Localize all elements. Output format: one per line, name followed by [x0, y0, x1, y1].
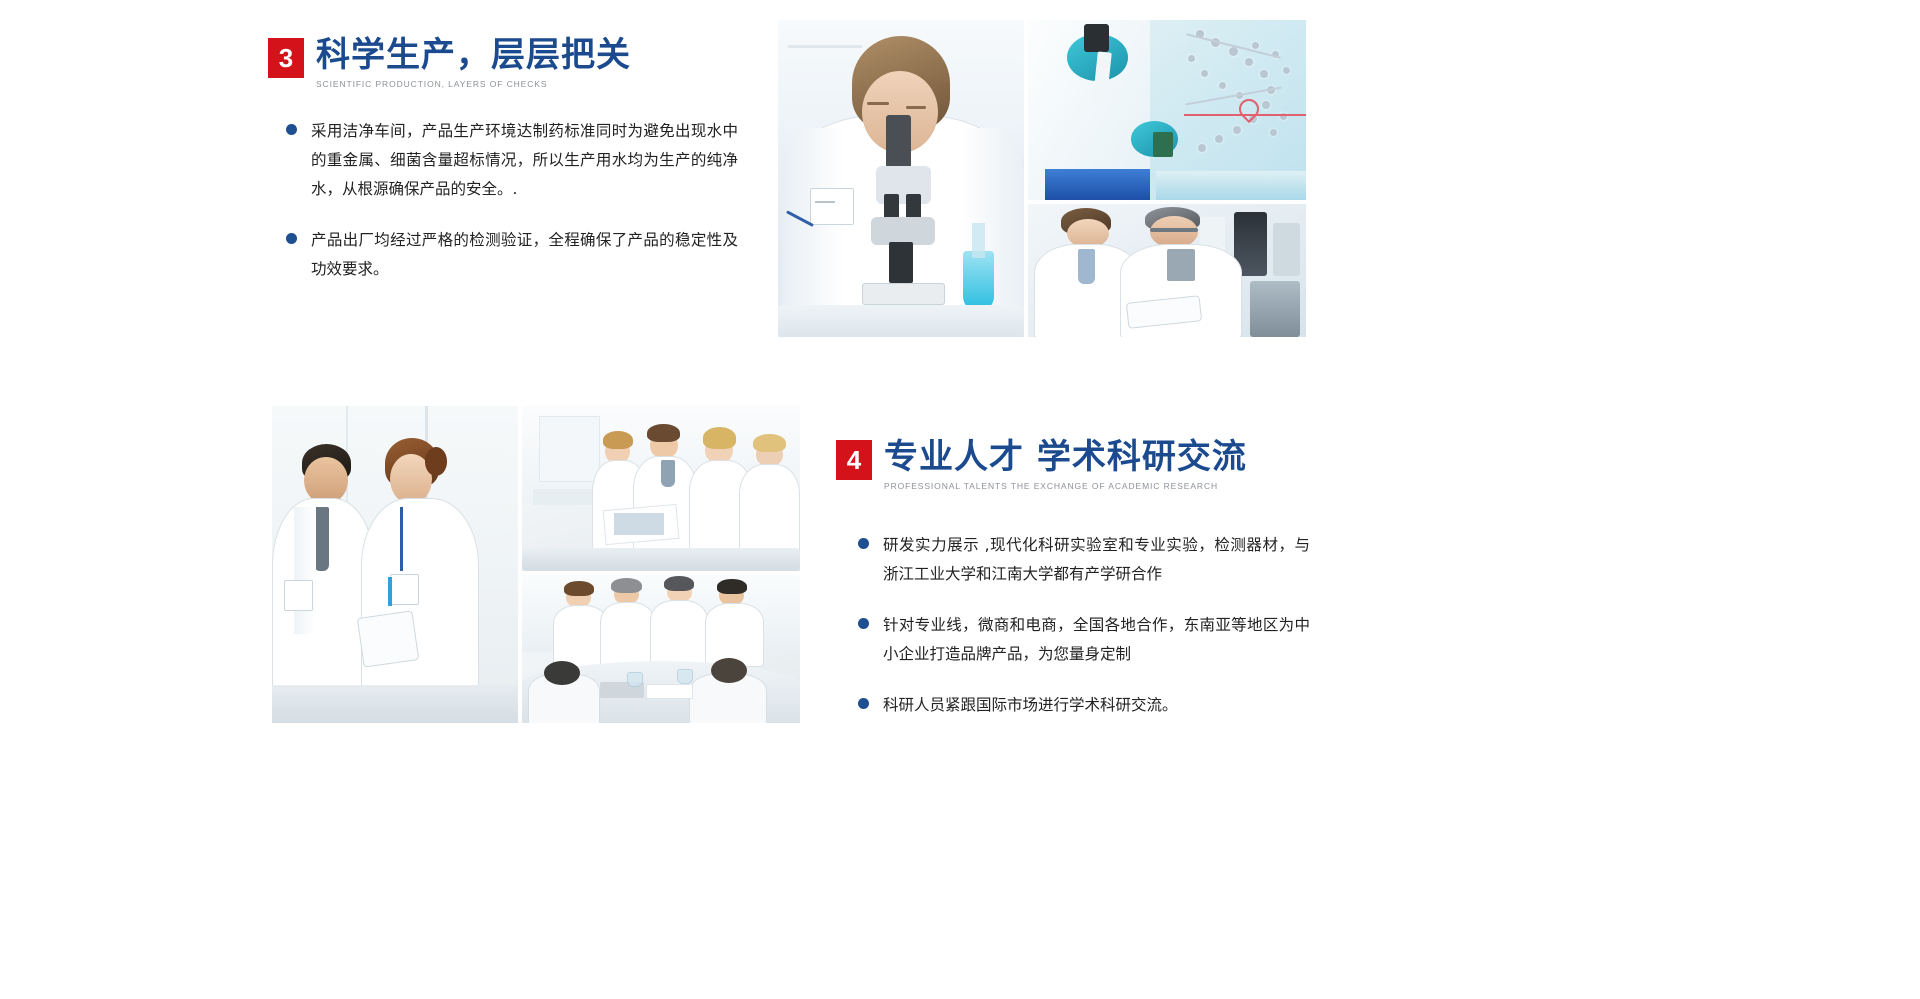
- section3-number-badge: 3: [268, 38, 304, 78]
- section3-title-en: SCIENTIFIC PRODUCTION, LAYERS OF CHECKS: [316, 79, 631, 89]
- bullet-dot-icon: [858, 538, 869, 549]
- section3-title-cn: 科学生产，层层把关: [316, 38, 631, 72]
- section3-bullet-text: 采用洁净车间，产品生产环境达制药标准同时为避免出现水中的重金属、细菌含量超标情况…: [311, 117, 738, 204]
- bullet-dot-icon: [858, 618, 869, 629]
- two-scientists-tablet-photo: [1028, 204, 1306, 337]
- section4-number-badge: 4: [836, 440, 872, 480]
- section-professional-talents: 4 专业人才 学术科研交流 PROFESSIONAL TALENTS THE E…: [836, 440, 1356, 740]
- list-item: 针对专业线，微商和电商，全国各地合作，东南亚等地区为中小企业打造品牌产品，为您量…: [858, 611, 1310, 669]
- section4-title-wrap: 专业人才 学术科研交流 PROFESSIONAL TALENTS THE EXC…: [884, 440, 1247, 491]
- page-root: 3 科学生产，层层把关 SCIENTIFIC PRODUCTION, LAYER…: [0, 0, 1920, 999]
- scientist-microscope-photo: [778, 20, 1024, 337]
- bullet-dot-icon: [286, 233, 297, 244]
- conference-round-table-photo: [522, 575, 800, 723]
- section4-photo-collage: [272, 406, 800, 723]
- list-item: 研发实力展示 ,现代化科研实验室和专业实验，检测器材，与浙江工业大学和江南大学都…: [858, 531, 1310, 589]
- list-item: 采用洁净车间，产品生产环境达制药标准同时为避免出现水中的重金属、细菌含量超标情况…: [286, 117, 738, 204]
- section4-bullet-text: 针对专业线，微商和电商，全国各地合作，东南亚等地区为中小企业打造品牌产品，为您量…: [883, 611, 1310, 669]
- section4-title-en: PROFESSIONAL TALENTS THE EXCHANGE OF ACA…: [884, 481, 1247, 491]
- bullet-dot-icon: [286, 124, 297, 135]
- medical-team-meeting-photo: [522, 406, 800, 571]
- section3-title-wrap: 科学生产，层层把关 SCIENTIFIC PRODUCTION, LAYERS …: [316, 38, 631, 89]
- section4-bullet-text: 科研人员紧跟国际市场进行学术科研交流。: [883, 691, 1178, 720]
- section-scientific-production: 3 科学生产，层层把关 SCIENTIFIC PRODUCTION, LAYER…: [268, 38, 788, 338]
- pipette-dna-photo: [1028, 20, 1306, 200]
- section4-header: 4 专业人才 学术科研交流 PROFESSIONAL TALENTS THE E…: [836, 440, 1356, 491]
- section4-bullet-text: 研发实力展示 ,现代化科研实验室和专业实验，检测器材，与浙江工业大学和江南大学都…: [883, 531, 1310, 589]
- bullet-dot-icon: [858, 698, 869, 709]
- list-item: 科研人员紧跟国际市场进行学术科研交流。: [858, 691, 1310, 720]
- section3-header: 3 科学生产，层层把关 SCIENTIFIC PRODUCTION, LAYER…: [268, 38, 788, 89]
- section4-bullet-list: 研发实力展示 ,现代化科研实验室和专业实验，检测器材，与浙江工业大学和江南大学都…: [858, 531, 1310, 720]
- section3-bullet-list: 采用洁净车间，产品生产环境达制药标准同时为避免出现水中的重金属、细菌含量超标情况…: [286, 117, 738, 284]
- section3-bullet-text: 产品出厂均经过严格的检测验证，全程确保了产品的稳定性及功效要求。: [311, 226, 738, 284]
- section3-photo-collage: [778, 20, 1306, 337]
- section4-title-cn: 专业人才 学术科研交流: [884, 440, 1247, 474]
- two-doctors-standing-photo: [272, 406, 518, 723]
- list-item: 产品出厂均经过严格的检测验证，全程确保了产品的稳定性及功效要求。: [286, 226, 738, 284]
